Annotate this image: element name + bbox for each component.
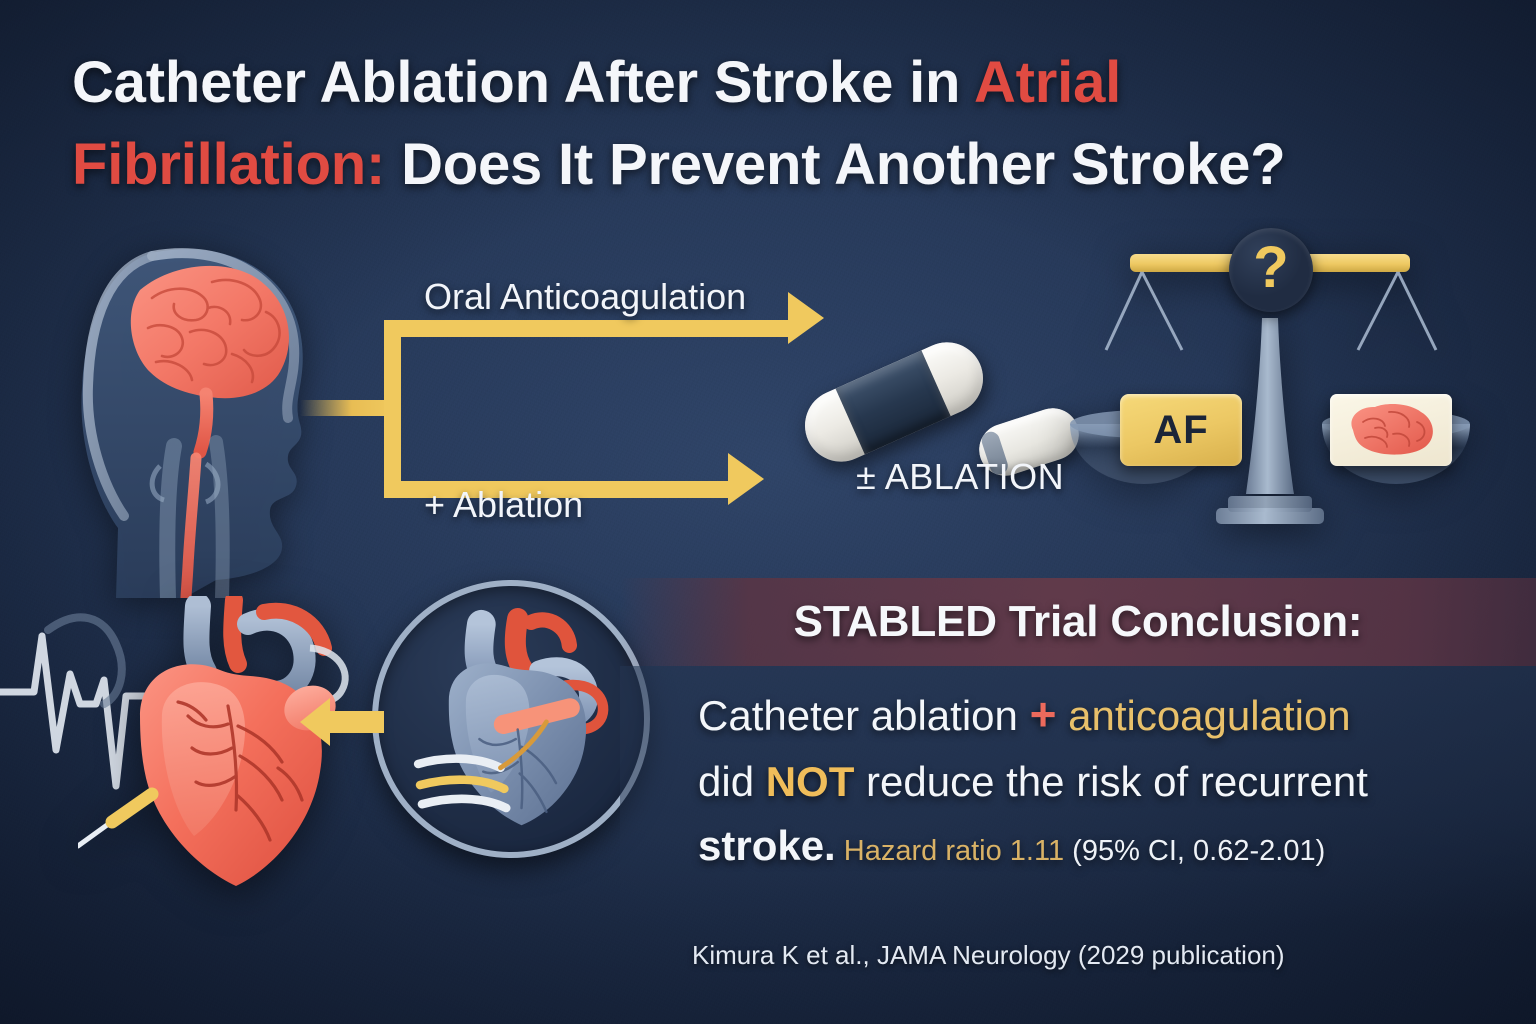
flow-arrow-bottom-head <box>728 453 764 505</box>
left-arrow-icon <box>300 694 384 750</box>
conclusion-text-2a: did <box>698 758 766 805</box>
conclusion-text-1b: anticoagulation <box>1056 692 1350 739</box>
title-line-1: Catheter Ablation After Stroke in Atrial <box>72 42 1472 124</box>
title-text-2: Does It Prevent Another Stroke? <box>385 132 1285 197</box>
flow-stem <box>300 400 394 416</box>
conclusion-body: Catheter ablation + anticoagulation did … <box>620 666 1536 926</box>
title-line-2: Fibrillation: Does It Prevent Another St… <box>72 124 1472 206</box>
confidence-interval: (95% CI, 0.62-2.01) <box>1064 835 1325 867</box>
title-highlight-atrial: Atrial <box>974 50 1121 115</box>
flow-arrow-top-shaft <box>384 320 790 337</box>
hazard-ratio-value: Hazard ratio 1.11 <box>836 835 1064 867</box>
balance-scale-icon: AF ? <box>1046 222 1494 538</box>
heart-icon <box>78 596 388 926</box>
flow-bracket <box>384 320 401 498</box>
question-mark-icon: ? <box>1229 228 1313 312</box>
conclusion-line-2: did NOT reduce the risk of recurrent <box>698 750 1510 814</box>
scale-plate-brain <box>1330 394 1452 466</box>
plus-icon: + <box>1030 688 1057 740</box>
infographic-poster: Catheter Ablation After Stroke in Atrial… <box>0 0 1536 1024</box>
flow-label-oral-anticoagulation: Oral Anticoagulation <box>424 276 746 318</box>
conclusion-emphasis-not: NOT <box>766 758 855 805</box>
conclusion-text-2b: reduce the risk of recurrent <box>854 758 1368 805</box>
page-title: Catheter Ablation After Stroke in Atrial… <box>72 42 1472 207</box>
conclusion-line-1: Catheter ablation + anticoagulation <box>698 680 1510 750</box>
flow-label-plusminus-ablation: ± ABLATION <box>856 456 1064 498</box>
capsule-pill-icon <box>793 331 994 473</box>
brain-icon <box>1337 400 1445 460</box>
citation: Kimura K et al., JAMA Neurology (2029 pu… <box>692 940 1285 971</box>
conclusion-band-title: STABLED Trial Conclusion: <box>794 597 1363 647</box>
conclusion-line-3: stroke. Hazard ratio 1.11 (95% CI, 0.62-… <box>698 814 1510 878</box>
flow-label-plus-ablation: + Ablation <box>424 484 583 526</box>
conclusion-text-3a: stroke. <box>698 822 836 869</box>
title-highlight-fibrillation: Fibrillation: <box>72 132 385 197</box>
capsule-band <box>836 350 951 454</box>
ablation-catheter-heart-icon <box>372 580 650 858</box>
title-text-1: Catheter Ablation After Stroke in <box>72 50 974 115</box>
conclusion-band: STABLED Trial Conclusion: <box>620 578 1536 666</box>
scale-plate-af: AF <box>1120 394 1242 466</box>
conclusion-text-1a: Catheter ablation <box>698 692 1030 739</box>
